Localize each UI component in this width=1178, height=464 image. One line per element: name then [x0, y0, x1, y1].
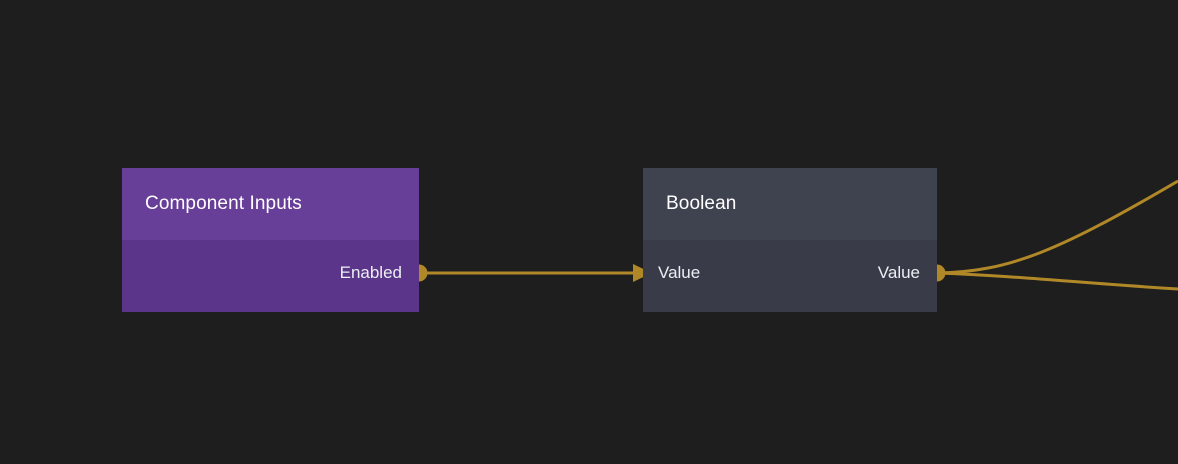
port-label-value-output: Value: [878, 263, 920, 283]
node-component-inputs[interactable]: Component Inputs Enabled: [122, 168, 419, 312]
node-body: Value Value: [643, 240, 937, 312]
node-body: Enabled: [122, 240, 419, 312]
port-label-enabled: Enabled: [340, 263, 402, 283]
port-row-enabled[interactable]: Enabled: [122, 240, 419, 306]
port-row-value[interactable]: Value Value: [643, 240, 937, 306]
node-title: Boolean: [666, 193, 736, 215]
node-header[interactable]: Component Inputs: [122, 168, 419, 240]
node-title: Component Inputs: [145, 193, 302, 215]
node-graph-canvas[interactable]: Component Inputs Enabled Boolean Value V…: [0, 0, 1178, 464]
edge-value-out-upper: [937, 181, 1178, 273]
port-label-value-input: Value: [658, 263, 700, 283]
edge-value-out-lower: [937, 273, 1178, 289]
node-boolean[interactable]: Boolean Value Value: [643, 168, 937, 312]
node-header[interactable]: Boolean: [643, 168, 937, 240]
